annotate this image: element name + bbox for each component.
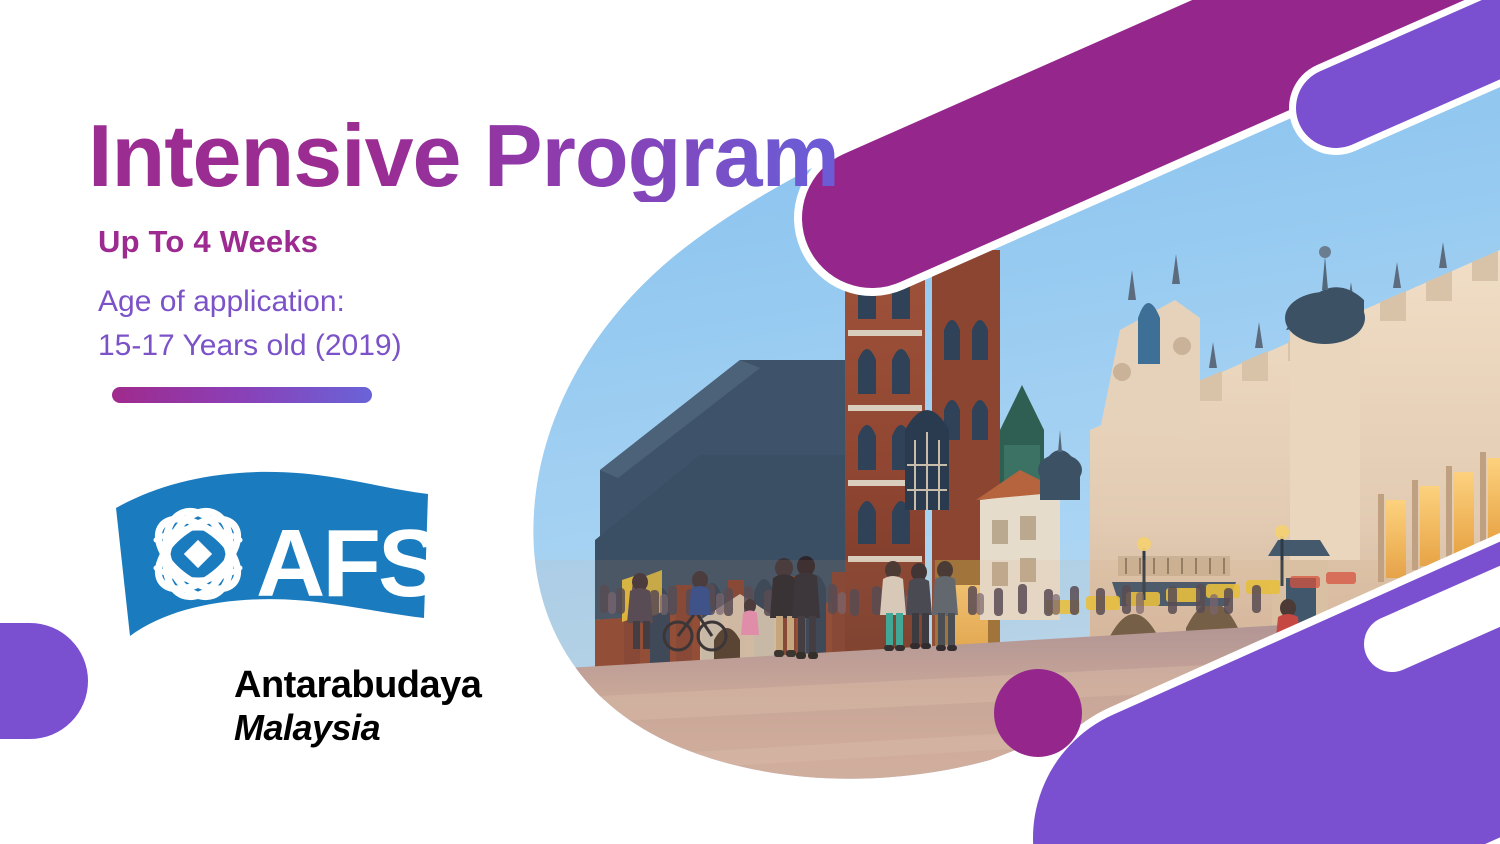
violet-left-pill <box>0 623 88 739</box>
program-duration: Up To 4 Weeks <box>98 224 918 260</box>
page-title: Intensive Program <box>88 110 918 202</box>
magenta-circle <box>994 669 1082 757</box>
age-value: 15-17 Years old (2019) <box>98 324 918 368</box>
organization-name: Antarabudaya <box>234 666 466 704</box>
age-label: Age of application: <box>98 280 918 324</box>
gradient-divider <box>112 387 372 403</box>
afs-flag-mark: AFS <box>106 468 436 664</box>
headline-block: Intensive Program Up To 4 Weeks Age of a… <box>88 110 918 367</box>
promotional-slide: Intensive Program Up To 4 Weeks Age of a… <box>0 0 1500 844</box>
afs-wordmark: AFS <box>256 510 436 617</box>
age-requirement: Age of application: 15-17 Years old (201… <box>98 280 918 367</box>
organization-country: Malaysia <box>234 710 466 746</box>
afs-logo: AFS Antarabudaya Malaysia <box>106 468 466 746</box>
